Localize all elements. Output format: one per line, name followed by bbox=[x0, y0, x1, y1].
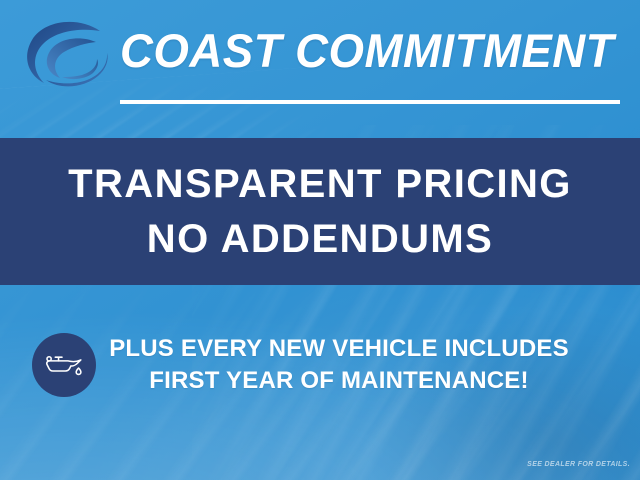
header-divider bbox=[120, 100, 620, 104]
promise-band: TRANSPARENT PRICING NO ADDENDUMS bbox=[0, 138, 640, 285]
disclaimer-text: SEE DEALER FOR DETAILS. bbox=[527, 461, 630, 468]
promise-line-transparent-pricing: TRANSPARENT PRICING bbox=[68, 157, 572, 212]
coast-commitment-banner: COAST COMMITMENT TRANSPARENT PRICING NO … bbox=[0, 0, 640, 480]
page-title: COAST COMMITMENT bbox=[120, 22, 605, 80]
maintenance-line-2: FIRST YEAR OF MAINTENANCE! bbox=[96, 365, 582, 397]
oil-can-icon bbox=[32, 333, 96, 397]
maintenance-line-1: PLUS EVERY NEW VEHICLE INCLUDES bbox=[96, 333, 582, 365]
promise-line-no-addendums: NO ADDENDUMS bbox=[147, 212, 493, 267]
maintenance-offer: PLUS EVERY NEW VEHICLE INCLUDES FIRST YE… bbox=[0, 325, 640, 405]
wave-swirl-icon bbox=[22, 18, 118, 94]
banner-header: COAST COMMITMENT bbox=[0, 0, 640, 138]
maintenance-text-block: PLUS EVERY NEW VEHICLE INCLUDES FIRST YE… bbox=[96, 333, 640, 397]
